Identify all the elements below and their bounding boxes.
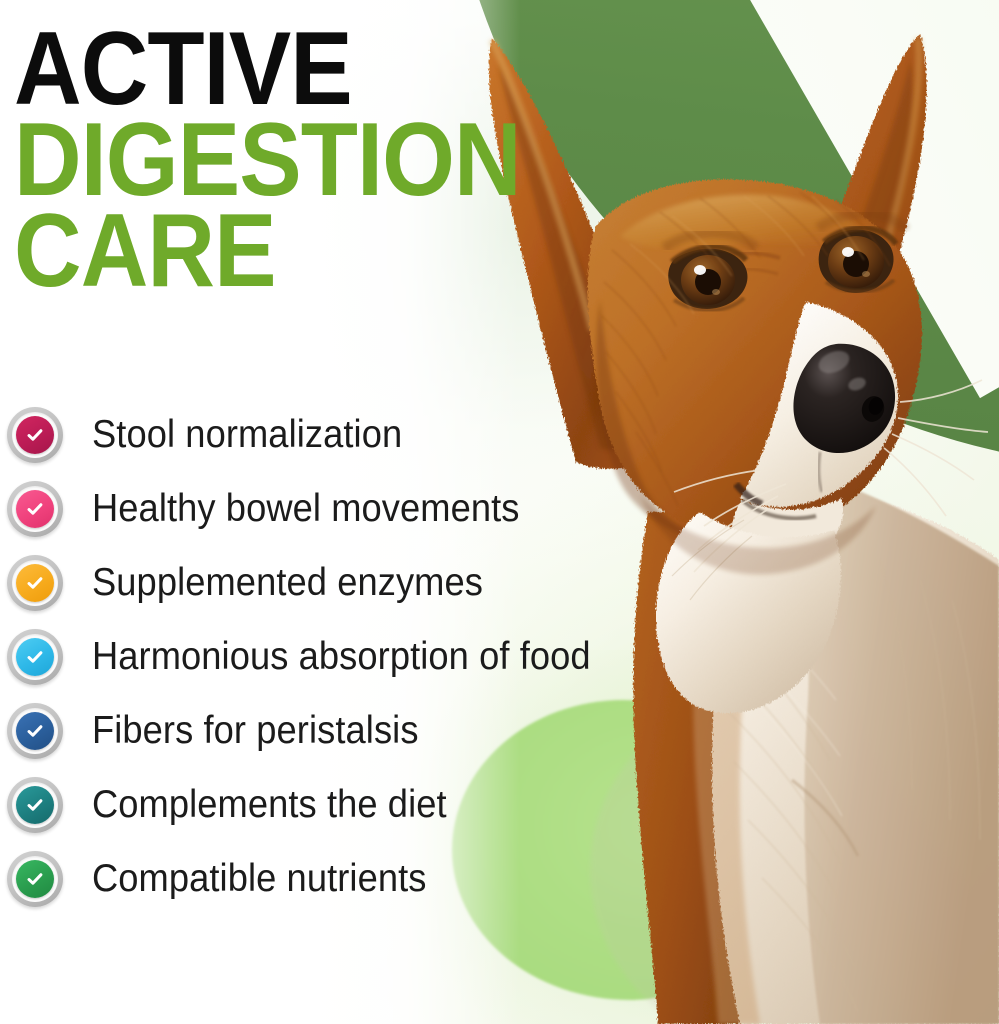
benefit-label: Fibers for peristalsis: [92, 709, 419, 753]
benefit-item-harmonious-absorption: Harmonious absorption of food: [7, 620, 628, 694]
headline-line-digestion: DIGESTION: [14, 119, 437, 202]
check-badge: [7, 777, 63, 833]
headline-line-active: ACTIVE: [14, 28, 437, 111]
check-icon: [16, 490, 54, 528]
benefit-label: Supplemented enzymes: [92, 561, 483, 605]
benefit-item-stool-normalization: Stool normalization: [7, 398, 628, 472]
check-icon: [16, 860, 54, 898]
benefit-label: Complements the diet: [92, 783, 447, 827]
check-icon: [16, 416, 54, 454]
headline-line-care: CARE: [14, 210, 437, 293]
benefit-item-healthy-bowel-movements: Healthy bowel movements: [7, 472, 628, 546]
banner-canvas: ACTIVE DIGESTION CARE Stool normalizatio…: [0, 0, 999, 1024]
benefit-item-fibers-for-peristalsis: Fibers for peristalsis: [7, 694, 628, 768]
benefits-list: Stool normalization Healthy bowel moveme…: [7, 398, 628, 916]
benefit-label: Stool normalization: [92, 413, 402, 457]
benefit-item-complements-the-diet: Complements the diet: [7, 768, 628, 842]
check-badge: [7, 851, 63, 907]
check-icon: [16, 786, 54, 824]
benefit-item-supplemented-enzymes: Supplemented enzymes: [7, 546, 628, 620]
check-icon: [16, 638, 54, 676]
check-icon: [16, 564, 54, 602]
check-badge: [7, 703, 63, 759]
headline-block: ACTIVE DIGESTION CARE: [14, 14, 484, 294]
check-badge: [7, 407, 63, 463]
check-badge: [7, 481, 63, 537]
benefit-label: Healthy bowel movements: [92, 487, 520, 531]
check-icon: [16, 712, 54, 750]
check-badge: [7, 555, 63, 611]
benefit-label: Compatible nutrients: [92, 857, 427, 901]
check-badge: [7, 629, 63, 685]
benefit-label: Harmonious absorption of food: [92, 635, 591, 679]
benefit-item-compatible-nutrients: Compatible nutrients: [7, 842, 628, 916]
